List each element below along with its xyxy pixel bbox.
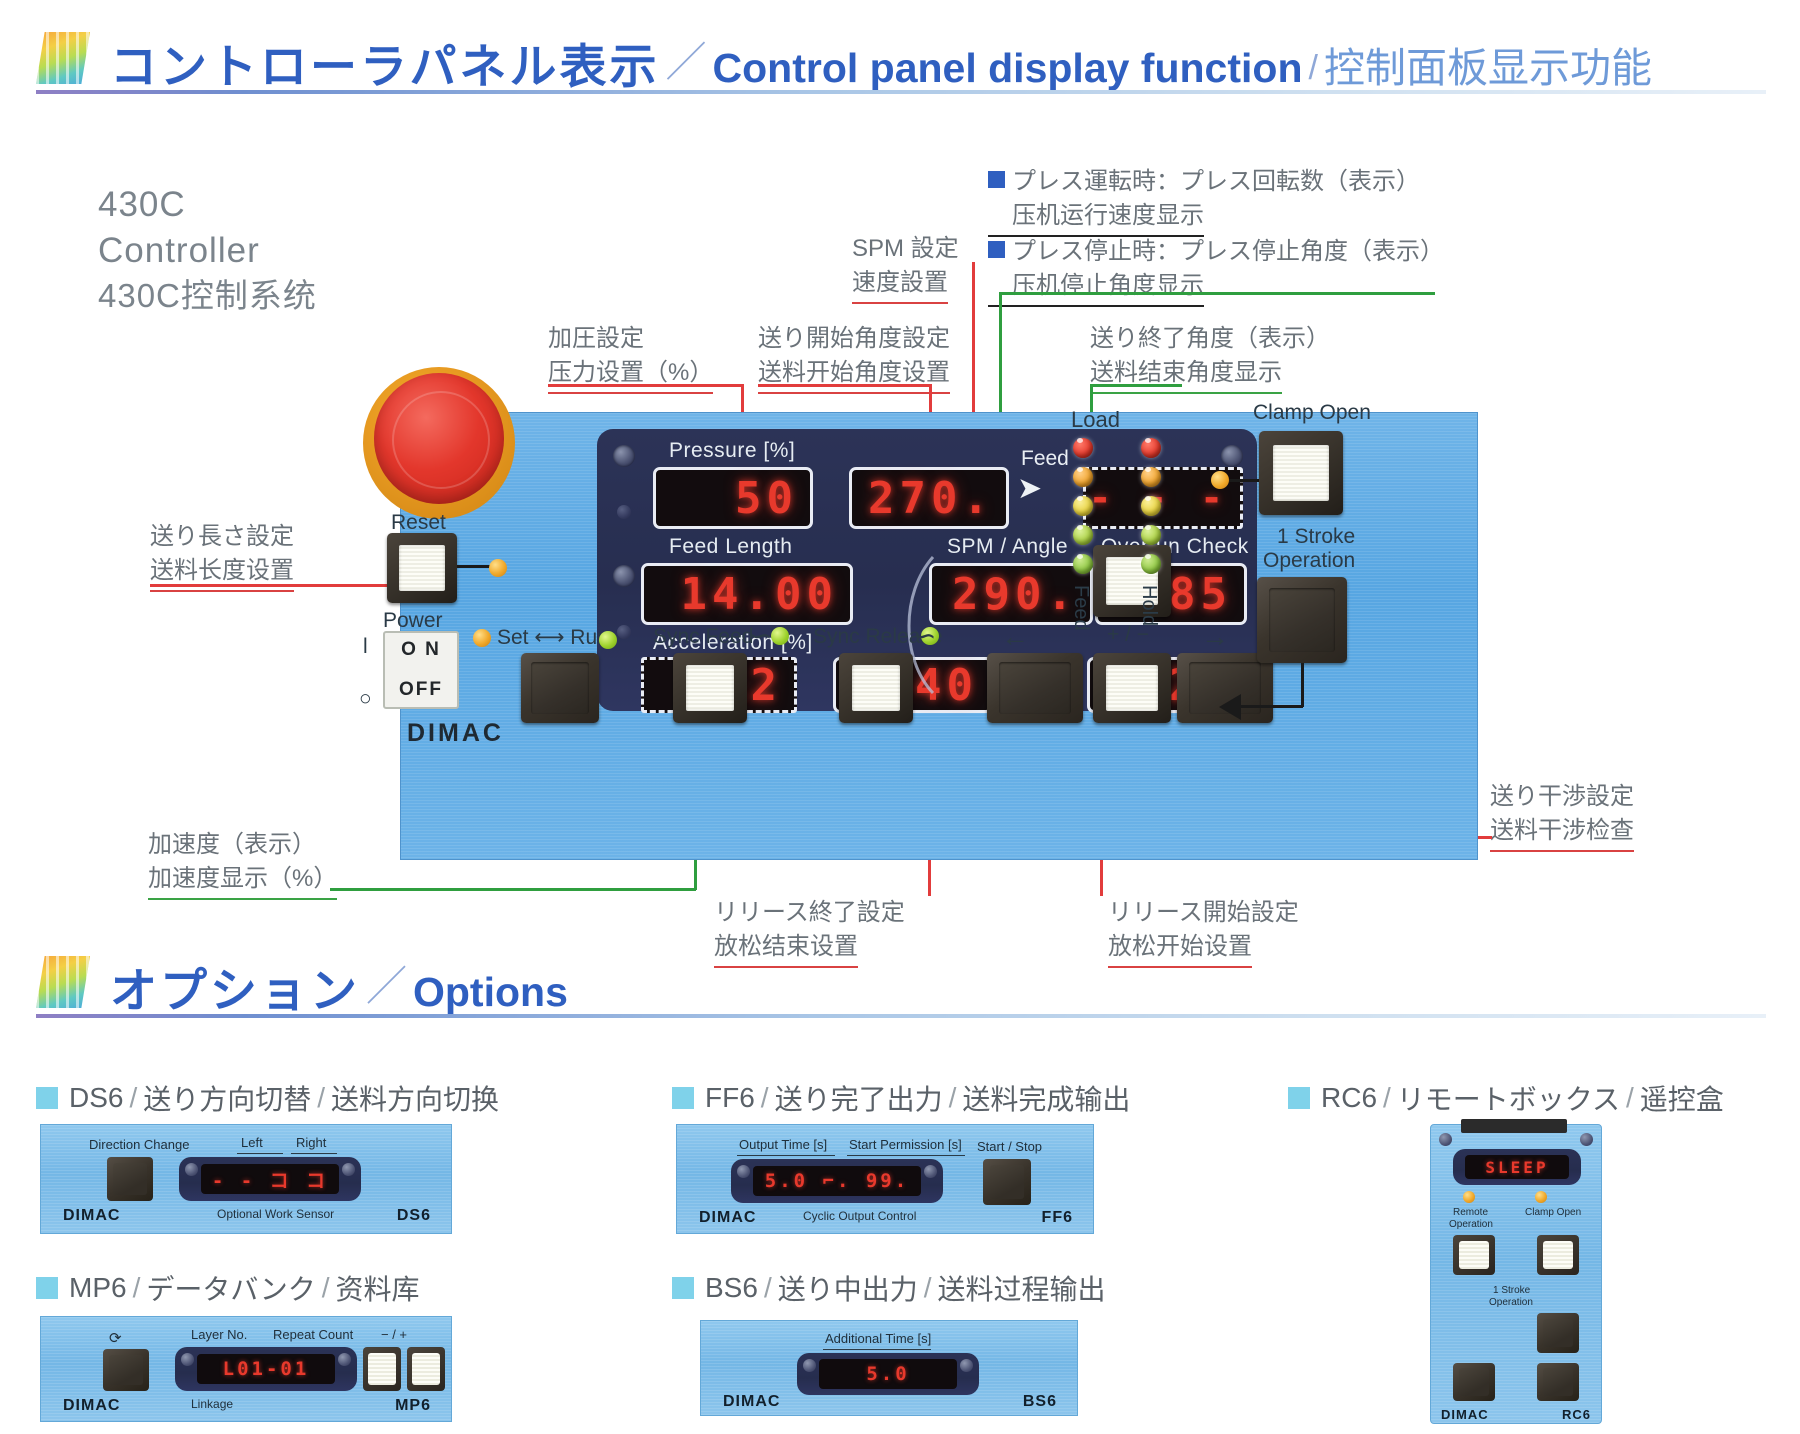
option-square-icon-ds6: [36, 1087, 58, 1109]
annotation-pressure-jp: 加圧設定: [548, 322, 713, 356]
rc6-top-connector: [1461, 1119, 1567, 1133]
bs6-brand: DIMAC: [723, 1393, 780, 1411]
rc6-brand: DIMAC: [1441, 1407, 1489, 1422]
led-hold-4: [1141, 525, 1161, 545]
ff6-label-start-permission: Start Permission [s]: [849, 1137, 962, 1152]
option-jp-ff6: 送り完了出力: [775, 1078, 943, 1118]
bs6-screw-right: [960, 1359, 973, 1372]
bullet-square-icon: [988, 171, 1005, 188]
annotation-acceleration-jp: 加速度（表示）: [148, 828, 337, 862]
display-feed-start-angle: 270.: [849, 467, 1009, 529]
clamp-open-wire: [1229, 479, 1259, 482]
power-switch[interactable]: O N OFF: [383, 631, 459, 709]
option-slash-9: /: [1377, 1082, 1397, 1114]
option-square-icon-mp6: [36, 1277, 58, 1299]
led-feed-2: [1073, 467, 1093, 487]
ds6-label-left: Left: [241, 1135, 263, 1150]
option-panel-rc6: SLEEP Remote Operation Clamp Open 1 Stro…: [1430, 1124, 1602, 1424]
rc6-label-remote-op: Operation: [1449, 1219, 1493, 1230]
rc6-one-stroke-button[interactable]: [1537, 1313, 1579, 1353]
ff6-lcd: 5.0 ⌐. 99.: [753, 1166, 921, 1196]
bs6-model-name: BS6: [1023, 1393, 1057, 1411]
label-load: Load: [1071, 407, 1120, 433]
ds6-left-tick: [237, 1153, 283, 1154]
mp6-label-linkage: Linkage: [191, 1397, 233, 1411]
annotation-release-end-cn: 放松结束设置: [714, 930, 858, 968]
housing-indicator-1: [617, 505, 631, 519]
rc6-label-one-stroke-op: Operation: [1489, 1297, 1533, 1308]
display-pressure: 50: [653, 467, 813, 529]
power-off-label: OFF: [399, 679, 443, 701]
mp6-screw-left: [181, 1353, 194, 1366]
mp6-label-minus-plus: − / +: [381, 1327, 407, 1342]
bs6-screw-left: [803, 1359, 816, 1372]
annotation-interference-cn: 送料干涉检查: [1490, 814, 1634, 852]
option-cn-rc6: 遥控盒: [1640, 1078, 1724, 1118]
options-title-jp: オプション: [110, 967, 360, 1014]
options-title-en: Options: [413, 972, 568, 1014]
option-header-mp6: MP6 / データバンク / 资料库: [36, 1268, 420, 1308]
label-clamp-open: Clamp Open: [1253, 401, 1371, 425]
section-title-slash: /: [1303, 49, 1324, 90]
callout-line-feedend: [1090, 384, 1182, 387]
option-header-bs6: BS6 / 送り中出力 / 送料过程输出: [672, 1268, 1106, 1308]
reset-led-wire: [457, 565, 491, 568]
model-code: 430C: [98, 182, 317, 228]
option-slash-6: /: [943, 1082, 963, 1114]
mp6-minus-button[interactable]: [363, 1347, 401, 1391]
section-gradient-icon: [36, 32, 90, 84]
ff6-screw-right: [924, 1165, 937, 1178]
ds6-display-housing: - - コ コ: [179, 1157, 361, 1201]
ff6-brand: DIMAC: [699, 1209, 756, 1227]
set-run-button[interactable]: [521, 653, 599, 723]
option-square-icon-rc6: [1288, 1087, 1310, 1109]
bs6-lcd: 5.0: [819, 1359, 957, 1389]
option-square-icon-bs6: [672, 1277, 694, 1299]
annotation-press-run-cn: 压机运行速度显示: [988, 199, 1204, 237]
rc6-label-one-stroke: 1 Stroke: [1493, 1285, 1530, 1296]
annotation-press-stop: プレス停止時：プレス停止角度（表示） 压机停止角度显示: [988, 235, 1444, 307]
section-title-cn: 控制面板显示功能: [1324, 48, 1652, 90]
annotation-pressure-cn: 压力设置（%）: [548, 356, 713, 394]
option-code-rc6: RC6: [1321, 1082, 1377, 1114]
mp6-lcd: L01-01: [197, 1354, 335, 1384]
led-bar-hold: [1141, 435, 1161, 583]
mp6-screw-right: [338, 1353, 351, 1366]
reset-indicator-led: [489, 559, 507, 577]
label-reset: Reset: [391, 511, 446, 535]
annotation-spm-cn: 速度設置: [852, 266, 948, 304]
option-code-bs6: BS6: [705, 1272, 758, 1304]
option-panel-ff6: Output Time [s] Start Permission [s] 5.0…: [676, 1124, 1094, 1234]
option-cn-ff6: 送料完成输出: [962, 1078, 1130, 1118]
annotation-feed-start-angle-jp: 送り開始角度設定: [758, 322, 950, 356]
ff6-tick-1: [737, 1155, 835, 1156]
label-right-arrow: →: [1201, 621, 1229, 653]
label-one-stroke-2: Operation: [1263, 549, 1355, 573]
rc6-right-button[interactable]: [1537, 1363, 1579, 1401]
option-panel-bs6: Additional Time [s] 5.0 DIMAC BS6: [700, 1320, 1078, 1416]
annotation-feed-length: 送り長さ設定 送料长度设置: [150, 520, 294, 592]
mp6-mode-button[interactable]: [103, 1349, 149, 1391]
bs6-display-housing: 5.0: [797, 1353, 979, 1395]
option-slash-4: /: [316, 1272, 336, 1304]
housing-screw-bl: [613, 565, 635, 587]
label-feed-bar: Feed: [1069, 585, 1092, 631]
reset-button[interactable]: [387, 533, 457, 603]
display-label-feed-length: Feed Length: [669, 535, 792, 559]
ds6-label-right: Right: [296, 1135, 326, 1150]
option-header-ff6: FF6 / 送り完了出力 / 送料完成输出: [672, 1078, 1130, 1118]
one-stroke-wire-v: [1301, 663, 1304, 707]
callout-line-accel: [330, 888, 696, 891]
annotation-acceleration: 加速度（表示） 加速度显示（%）: [148, 828, 337, 900]
emergency-stop-button[interactable]: [363, 367, 515, 519]
rc6-clamp-led: [1535, 1191, 1547, 1203]
ds6-lcd-value: - - コ コ: [212, 1166, 328, 1193]
power-symbol-o: ○: [359, 687, 372, 711]
annotation-interference: 送り干渉設定 送料干涉检查: [1490, 780, 1634, 852]
annotation-release-end-jp: リリース終了設定: [714, 896, 905, 930]
label-left-arrow: ←: [1001, 621, 1029, 653]
option-slash-3: /: [127, 1272, 147, 1304]
model-cn: 430C控制系统: [98, 274, 317, 318]
ff6-display-housing: 5.0 ⌐. 99.: [731, 1159, 943, 1203]
option-header-ds6: DS6 / 送り方向切替 / 送料方向切换: [36, 1078, 499, 1118]
ds6-label-direction-change: Direction Change: [89, 1137, 189, 1152]
mp6-lcd-value: L01-01: [223, 1358, 310, 1380]
option-cn-ds6: 送料方向切换: [331, 1078, 499, 1118]
callout-line-pressure: [548, 384, 744, 387]
led-hold-2: [1141, 467, 1161, 487]
ds6-screw-right: [342, 1163, 355, 1176]
label-one-stroke-1: 1 Stroke: [1277, 525, 1355, 549]
sync-feed-glyph-icon: ∽: [749, 619, 772, 652]
ds6-right-tick: [291, 1153, 337, 1154]
led-feed-1: [1073, 438, 1093, 458]
bs6-tick: [823, 1349, 931, 1350]
model-en: Controller: [98, 228, 317, 274]
sync-release-glyph-icon: ∽: [913, 619, 936, 652]
label-set-run: Set ⟷ Run: [497, 625, 609, 650]
rc6-label-clamp-open: Clamp Open: [1525, 1207, 1581, 1218]
annotation-release-start-jp: リリース開始設定: [1108, 896, 1299, 930]
option-jp-bs6: 送り中出力: [778, 1268, 918, 1308]
option-slash-2: /: [311, 1082, 331, 1114]
rc6-clamp-open-button[interactable]: [1537, 1235, 1579, 1275]
annotation-feed-end-angle-cn: 送料结束角度显示: [1090, 356, 1282, 394]
rc6-display-housing: SLEEP: [1453, 1149, 1581, 1185]
plus-minus-button-2[interactable]: [1093, 653, 1171, 723]
display-feed-length-value: 14.00: [681, 569, 838, 620]
rc6-screw-tl: [1439, 1133, 1452, 1146]
display-overrun-check-value: 85: [1169, 569, 1232, 620]
led-feed-4: [1073, 525, 1093, 545]
label-sync-feed: Sync Feed: [653, 625, 753, 649]
ds6-screw-left: [185, 1163, 198, 1176]
bs6-label-additional-time: Additional Time [s]: [825, 1331, 931, 1346]
mp6-label-layer-no: Layer No.: [191, 1327, 247, 1342]
ff6-label-cyclic-output: Cyclic Output Control: [803, 1209, 916, 1223]
led-hold-5: [1141, 554, 1161, 574]
callout-line-pressstop-h: [999, 292, 1435, 295]
annotation-release-end: リリース終了設定 放松结束设置: [714, 896, 905, 968]
led-hold-3: [1141, 496, 1161, 516]
option-panel-ds6: Direction Change Left Right - - コ コ Opti…: [40, 1124, 452, 1234]
brand-dimac: DIMAC: [407, 719, 504, 748]
option-slash-8: /: [918, 1272, 938, 1304]
label-power: Power: [383, 609, 443, 633]
ds6-model-name: DS6: [397, 1207, 431, 1225]
options-gradient-icon: [36, 956, 90, 1008]
annotation-acceleration-cn: 加速度显示（%）: [148, 862, 337, 900]
display-spm-angle-value: 290.: [952, 569, 1078, 620]
option-jp-rc6: リモートボックス: [1397, 1078, 1620, 1118]
annotation-feed-start-angle-cn: 送料开始角度设置: [758, 356, 950, 394]
option-slash-7: /: [758, 1272, 778, 1304]
ff6-lcd-value: 5.0 ⌐. 99.: [765, 1170, 909, 1192]
ff6-model-name: FF6: [1042, 1209, 1073, 1227]
option-cn-bs6: 送料过程输出: [938, 1268, 1106, 1308]
mp6-display-housing: L01-01: [175, 1347, 357, 1391]
bs6-lcd-value: 5.0: [866, 1363, 909, 1385]
option-cn-mp6: 资料库: [336, 1268, 420, 1308]
rc6-remote-led: [1463, 1191, 1475, 1203]
set-run-led: [473, 629, 491, 647]
option-code-ff6: FF6: [705, 1082, 755, 1114]
label-feed: Feed: [1021, 447, 1069, 471]
mp6-label-repeat-count: Repeat Count: [273, 1327, 353, 1342]
annotation-press-stop-jp: プレス停止時：プレス停止角度（表示）: [988, 235, 1444, 269]
ff6-label-output-time: Output Time [s]: [739, 1137, 827, 1152]
annotation-feed-length-jp: 送り長さ設定: [150, 520, 294, 554]
one-stroke-wire-arrow: [1219, 694, 1241, 720]
annotation-press-run-jp: プレス運転時：プレス回転数（表示）: [988, 165, 1420, 199]
label-hold-bar: Hold: [1137, 585, 1160, 626]
callout-line-feedstart: [758, 384, 932, 387]
annotation-press-run: プレス運転時：プレス回転数（表示） 压机运行速度显示: [988, 165, 1420, 237]
power-symbol-i: l: [363, 635, 368, 659]
sync-feed-led: [771, 627, 789, 645]
annotation-spm-jp: SPM 設定: [852, 232, 959, 266]
housing-screw-tl: [613, 445, 635, 467]
mp6-brand: DIMAC: [63, 1397, 120, 1415]
ff6-screw-left: [737, 1165, 750, 1178]
rc6-model-name: RC6: [1562, 1407, 1591, 1422]
model-label: 430C Controller 430C控制系统: [98, 182, 317, 318]
led-bar-feed: [1073, 435, 1093, 583]
option-slash-1: /: [123, 1082, 143, 1114]
options-title-separator: ／: [360, 952, 413, 1014]
option-jp-ds6: 送り方向切替: [143, 1078, 311, 1118]
display-feed-start-angle-value: 270.: [868, 473, 994, 524]
clamp-open-led: [1211, 471, 1229, 489]
section-rule-main: [36, 90, 1766, 94]
rc6-label-remote: Remote: [1453, 1207, 1488, 1218]
label-plus-minus: + / −: [1107, 623, 1149, 647]
ff6-start-stop-button[interactable]: [983, 1159, 1031, 1205]
annotation-press-stop-cn: 压机停止角度显示: [988, 269, 1204, 307]
led-feed-5: [1073, 554, 1093, 574]
annotation-release-start-cn: 放松开始设置: [1108, 930, 1252, 968]
housing-indicator-2: [617, 625, 631, 639]
section-title-separator: ／: [660, 28, 713, 90]
rc6-left-button[interactable]: [1453, 1363, 1495, 1401]
rc6-lcd: SLEEP: [1465, 1155, 1569, 1179]
rc6-remote-operation-button[interactable]: [1453, 1235, 1495, 1275]
option-jp-mp6: データバンク: [146, 1268, 315, 1308]
option-code-ds6: DS6: [69, 1082, 123, 1114]
option-square-icon-ff6: [672, 1087, 694, 1109]
display-label-pressure: Pressure [%]: [669, 439, 795, 463]
display-pressure-value: 50: [735, 473, 798, 524]
annotation-interference-jp: 送り干渉設定: [1490, 780, 1634, 814]
annotation-spm: SPM 設定 速度設置: [852, 232, 959, 304]
option-code-mp6: MP6: [69, 1272, 127, 1304]
controller-panel: Pressure [%] 50 270. Feed ➤ - - - Feed L…: [400, 412, 1478, 860]
left-arrow-button[interactable]: [987, 653, 1083, 723]
mp6-model-name: MP6: [395, 1397, 431, 1415]
option-slash-10: /: [1620, 1082, 1640, 1114]
one-stroke-wire-h: [1241, 705, 1303, 708]
section-header-options: オプション ／ Options: [36, 952, 568, 1014]
annotation-release-start: リリース開始設定 放松开始设置: [1108, 896, 1299, 968]
led-feed-3: [1073, 496, 1093, 516]
section-title-jp: コントローラパネル表示: [110, 43, 660, 90]
rc6-lcd-value: SLEEP: [1485, 1158, 1548, 1177]
sync-feed-button[interactable]: [673, 653, 747, 723]
option-panel-mp6: ⟳ Layer No. Repeat Count L01-01 Linkage …: [40, 1316, 452, 1422]
section-header-main: コントローラパネル表示 ／ Control panel display func…: [36, 28, 1652, 90]
bullet-square-icon: [988, 241, 1005, 258]
led-hold-1: [1141, 438, 1161, 458]
rc6-screw-tr: [1580, 1133, 1593, 1146]
power-on-label: O N: [401, 639, 441, 661]
housing-screw-tr: [1221, 445, 1243, 467]
sync-release-button[interactable]: [839, 653, 913, 723]
clamp-open-button[interactable]: [1259, 431, 1343, 515]
set-run-green-led: [599, 631, 617, 649]
section-title-en: Control panel display function: [713, 48, 1303, 90]
option-slash-5: /: [755, 1082, 775, 1114]
annotation-feed-end-angle-jp: 送り終了角度（表示）: [1090, 322, 1330, 356]
mp6-loop-icon: ⟳: [109, 1329, 122, 1347]
ff6-label-start-stop: Start / Stop: [977, 1139, 1042, 1154]
ds6-label-work-sensor: Optional Work Sensor: [217, 1207, 334, 1221]
mp6-plus-button[interactable]: [407, 1347, 445, 1391]
ff6-tick-2: [847, 1155, 965, 1156]
display-feed-length: 14.00: [641, 563, 853, 625]
ds6-direction-change-button[interactable]: [107, 1157, 153, 1201]
ds6-lcd: - - コ コ: [201, 1164, 339, 1194]
ds6-brand: DIMAC: [63, 1207, 120, 1225]
feed-arrow-icon: ➤: [1017, 471, 1042, 506]
one-stroke-operation-button[interactable]: [1257, 577, 1347, 663]
section-rule-options: [36, 1014, 1766, 1018]
option-header-rc6: RC6 / リモートボックス / 遥控盒: [1288, 1078, 1724, 1118]
